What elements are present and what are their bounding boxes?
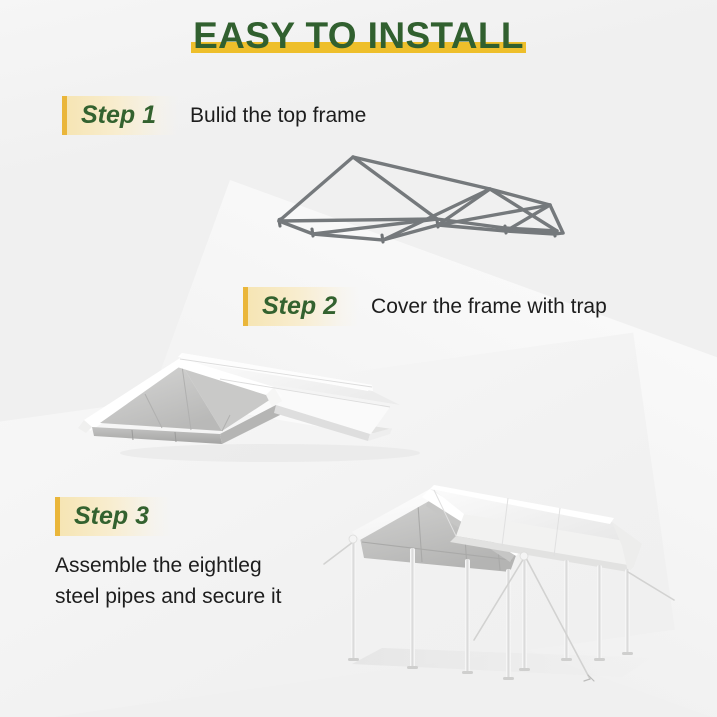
step-3-badge-label: Step 3 [74,502,149,530]
guy-ropes [324,542,674,679]
infographic-page: EASY TO INSTALL Step 1 Bulid the top fra… [0,0,717,717]
step-1-badge-label: Step 1 [81,101,156,129]
step-2-badge: Step 2 [243,287,359,326]
step-1-description: Bulid the top frame [190,102,366,130]
step-2-badge-label: Step 2 [262,292,337,320]
step-2-row: Step 2 Cover the frame with trap [243,287,607,326]
step-2-description: Cover the frame with trap [371,293,607,321]
page-title: EASY TO INSTALL [0,14,717,58]
step-3-row: Step 3 Assemble the eightleg steel pipes… [55,497,281,612]
step-1-badge: Step 1 [62,96,178,135]
step-3-description-line-2: steel pipes and secure it [55,581,281,612]
step-1-row: Step 1 Bulid the top frame [62,96,366,135]
tent-frame-wireframe-illustration [205,148,585,260]
assembled-carport-illustration [322,472,714,697]
step-3-description: Assemble the eightleg steel pipes and se… [55,550,281,612]
step-3-badge: Step 3 [55,497,171,536]
background-sheen-middle [114,180,717,717]
page-title-text: EASY TO INSTALL [193,15,524,56]
step-3-description-line-1: Assemble the eightleg [55,550,281,581]
canopy-tarp-illustration [70,335,440,465]
carport-legs [351,538,630,679]
